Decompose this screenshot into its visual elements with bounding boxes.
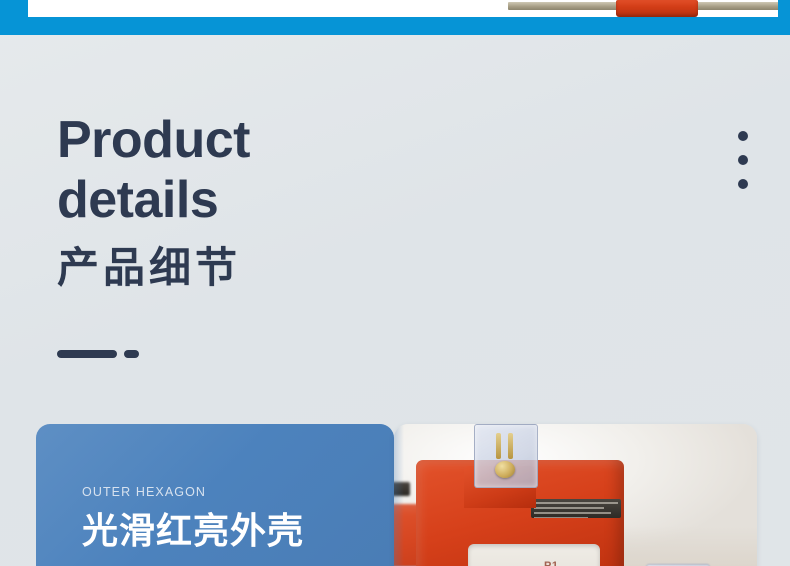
product-details-page: Product details 产品细节 OUTER HEXAGON 光滑红亮外… xyxy=(0,0,790,566)
terminal-cover-main xyxy=(474,424,538,488)
feature-card-eyebrow: OUTER HEXAGON xyxy=(82,485,382,499)
busbar-left xyxy=(508,2,623,10)
kebab-dot-2 xyxy=(738,155,748,165)
terminal-screw xyxy=(495,461,515,478)
section-divider-band xyxy=(0,0,790,35)
heading-underline xyxy=(57,350,139,358)
more-options-icon[interactable] xyxy=(738,131,748,189)
kebab-dot-1 xyxy=(738,131,748,141)
nameplate-line xyxy=(534,502,618,504)
transformer-body-fragment xyxy=(616,0,698,17)
page-heading: Product details 产品细节 xyxy=(57,110,477,292)
nameplate-line xyxy=(534,517,588,518)
nameplate-line xyxy=(534,512,611,514)
product-photo-fragment xyxy=(508,0,778,17)
terminal-marking-p1: P1 xyxy=(544,560,558,566)
terminal-pin xyxy=(508,433,513,459)
kebab-dot-3 xyxy=(738,179,748,189)
transformer-window xyxy=(468,544,600,566)
page-title-en: Product details xyxy=(57,110,477,230)
transformer-nameplate xyxy=(531,499,621,518)
page-title-cn: 产品细节 xyxy=(57,244,477,292)
feature-card-title: 光滑红亮外壳 xyxy=(82,509,382,553)
underline-dot xyxy=(124,350,139,358)
previous-section-tail xyxy=(28,0,778,17)
feature-card-text: OUTER HEXAGON 光滑红亮外壳 xyxy=(82,485,382,553)
photo-edge-shade xyxy=(394,424,404,566)
terminal-pin xyxy=(496,433,501,459)
underline-bar xyxy=(57,350,117,358)
product-photo-card[interactable]: P1 200A/5A xyxy=(394,424,757,566)
busbar-right xyxy=(693,2,778,10)
nameplate-line xyxy=(534,507,604,509)
